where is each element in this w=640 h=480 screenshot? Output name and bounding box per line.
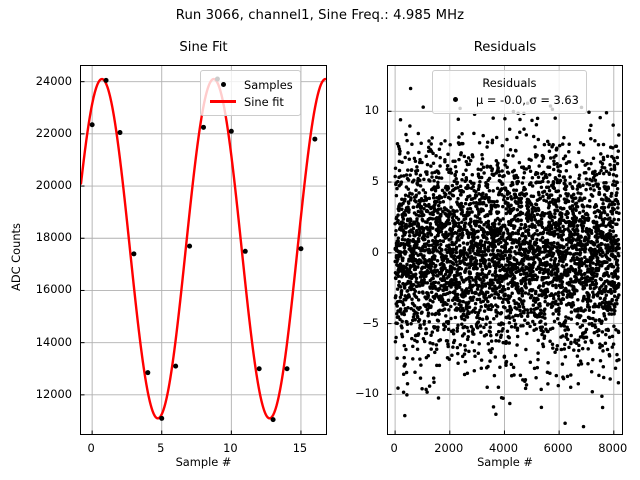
- figure-suptitle: Run 3066, channel1, Sine Freq.: 4.985 MH…: [0, 8, 640, 23]
- samples-marker-icon: [208, 82, 238, 87]
- xtick-label-15: 15: [270, 441, 330, 455]
- sine-plot-legend: Samples Sine fit: [200, 70, 301, 116]
- sine-plot-ylabel: ADC Counts: [9, 197, 23, 317]
- xtick-label-8000: 8000: [583, 441, 640, 455]
- ytick-label-24000: 24000: [22, 74, 72, 88]
- legend-label-samples: Samples: [244, 78, 293, 92]
- xtick-label-0: 0: [61, 441, 121, 455]
- ytick-label-16000: 16000: [22, 282, 72, 296]
- sine-fit-line-icon: [208, 100, 238, 102]
- legend-entry-sine-fit: Sine fit: [208, 93, 293, 110]
- residuals-marker-icon: [440, 97, 470, 102]
- ytick-label-22000: 22000: [22, 126, 72, 140]
- ytick-label-10: 10: [329, 103, 379, 117]
- residuals-plot-xlabel: Sample #: [387, 455, 623, 469]
- sine-fit-canvas: [81, 66, 326, 434]
- legend-entry-residuals-stats: μ = -0.0, σ = 3.63: [440, 91, 579, 108]
- ytick-label-0: 0: [329, 245, 379, 259]
- ytick-label-neg5: −5: [329, 316, 379, 330]
- xtick-label-4000: 4000: [473, 441, 533, 455]
- matplotlib-figure: Run 3066, channel1, Sine Freq.: 4.985 MH…: [0, 0, 640, 480]
- ytick-label-12000: 12000: [22, 387, 72, 401]
- ytick-label-20000: 20000: [22, 178, 72, 192]
- residuals-axes: [387, 65, 623, 435]
- legend-entry-samples: Samples: [208, 76, 293, 93]
- residuals-canvas: [388, 66, 622, 434]
- residuals-plot-title: Residuals: [387, 40, 623, 55]
- xtick-label-10: 10: [200, 441, 260, 455]
- xtick-label-0: 0: [364, 441, 424, 455]
- xtick-label-5: 5: [131, 441, 191, 455]
- residuals-plot-legend: Residuals μ = -0.0, σ = 3.63: [432, 70, 587, 114]
- xtick-label-6000: 6000: [528, 441, 588, 455]
- sine-plot-title: Sine Fit: [80, 40, 327, 55]
- ytick-label-18000: 18000: [22, 230, 72, 244]
- residuals-legend-title: Residuals: [440, 76, 579, 90]
- ytick-label-neg10: −10: [329, 386, 379, 400]
- legend-label-sine-fit: Sine fit: [244, 95, 284, 109]
- legend-label-residual-stats: μ = -0.0, σ = 3.63: [476, 93, 579, 107]
- ytick-label-14000: 14000: [22, 335, 72, 349]
- xtick-label-2000: 2000: [419, 441, 479, 455]
- sine-plot-xlabel: Sample #: [80, 455, 327, 469]
- sine-fit-axes: [80, 65, 327, 435]
- ytick-label-5: 5: [329, 174, 379, 188]
